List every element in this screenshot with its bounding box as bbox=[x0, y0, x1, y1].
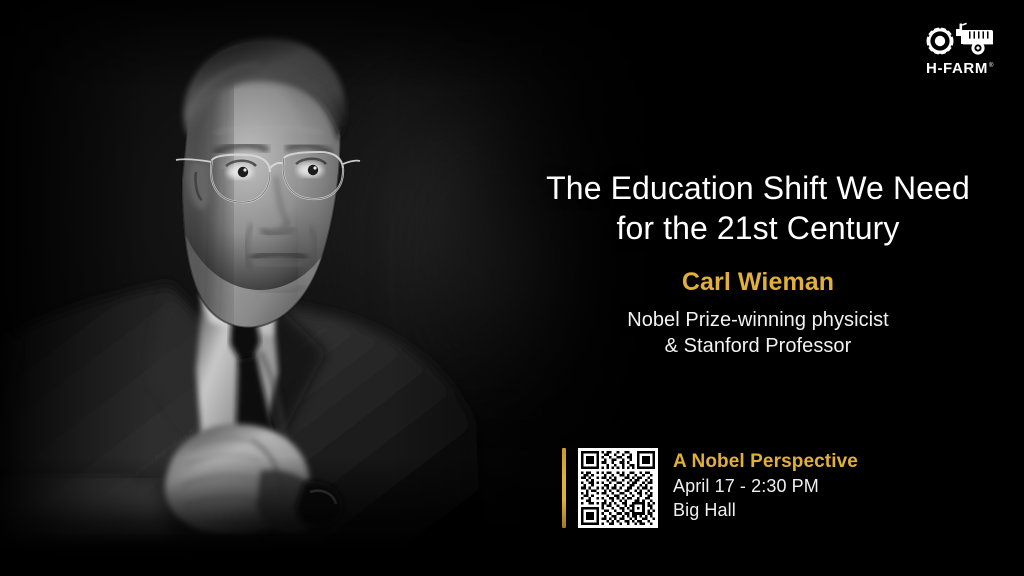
hfarm-wordmark: H-FARM® bbox=[926, 61, 994, 76]
talk-text-block: The Education Shift We Need for the 21st… bbox=[510, 168, 1006, 359]
event-venue: Big Hall bbox=[673, 499, 858, 523]
speaker-name: Carl Wieman bbox=[510, 269, 1006, 297]
event-details-card: A Nobel Perspective April 17 - 2:30 PM B… bbox=[562, 448, 858, 528]
hfarm-logo: H-FARM® bbox=[918, 22, 1002, 76]
accent-bar bbox=[562, 448, 566, 528]
tractor-icon bbox=[923, 22, 997, 56]
speaker-role: Nobel Prize-winning physicist & Stanford… bbox=[510, 308, 1006, 359]
talk-title-line-1: The Education Shift We Need bbox=[546, 170, 970, 206]
speaker-role-line-1: Nobel Prize-winning physicist bbox=[627, 309, 889, 331]
qr-code-icon[interactable] bbox=[578, 448, 658, 528]
bottom-vignette bbox=[0, 456, 1024, 576]
talk-title-line-2: for the 21st Century bbox=[616, 210, 899, 246]
event-text-group: A Nobel Perspective April 17 - 2:30 PM B… bbox=[673, 448, 858, 528]
event-poster: H-FARM® The Education Shift We Need for … bbox=[0, 0, 1024, 576]
talk-title: The Education Shift We Need for the 21st… bbox=[510, 168, 1006, 249]
registered-mark: ® bbox=[989, 63, 994, 69]
event-series-title: A Nobel Perspective bbox=[673, 450, 858, 475]
speaker-role-line-2: & Stanford Professor bbox=[665, 335, 852, 357]
event-date-time: April 17 - 2:30 PM bbox=[673, 475, 858, 499]
